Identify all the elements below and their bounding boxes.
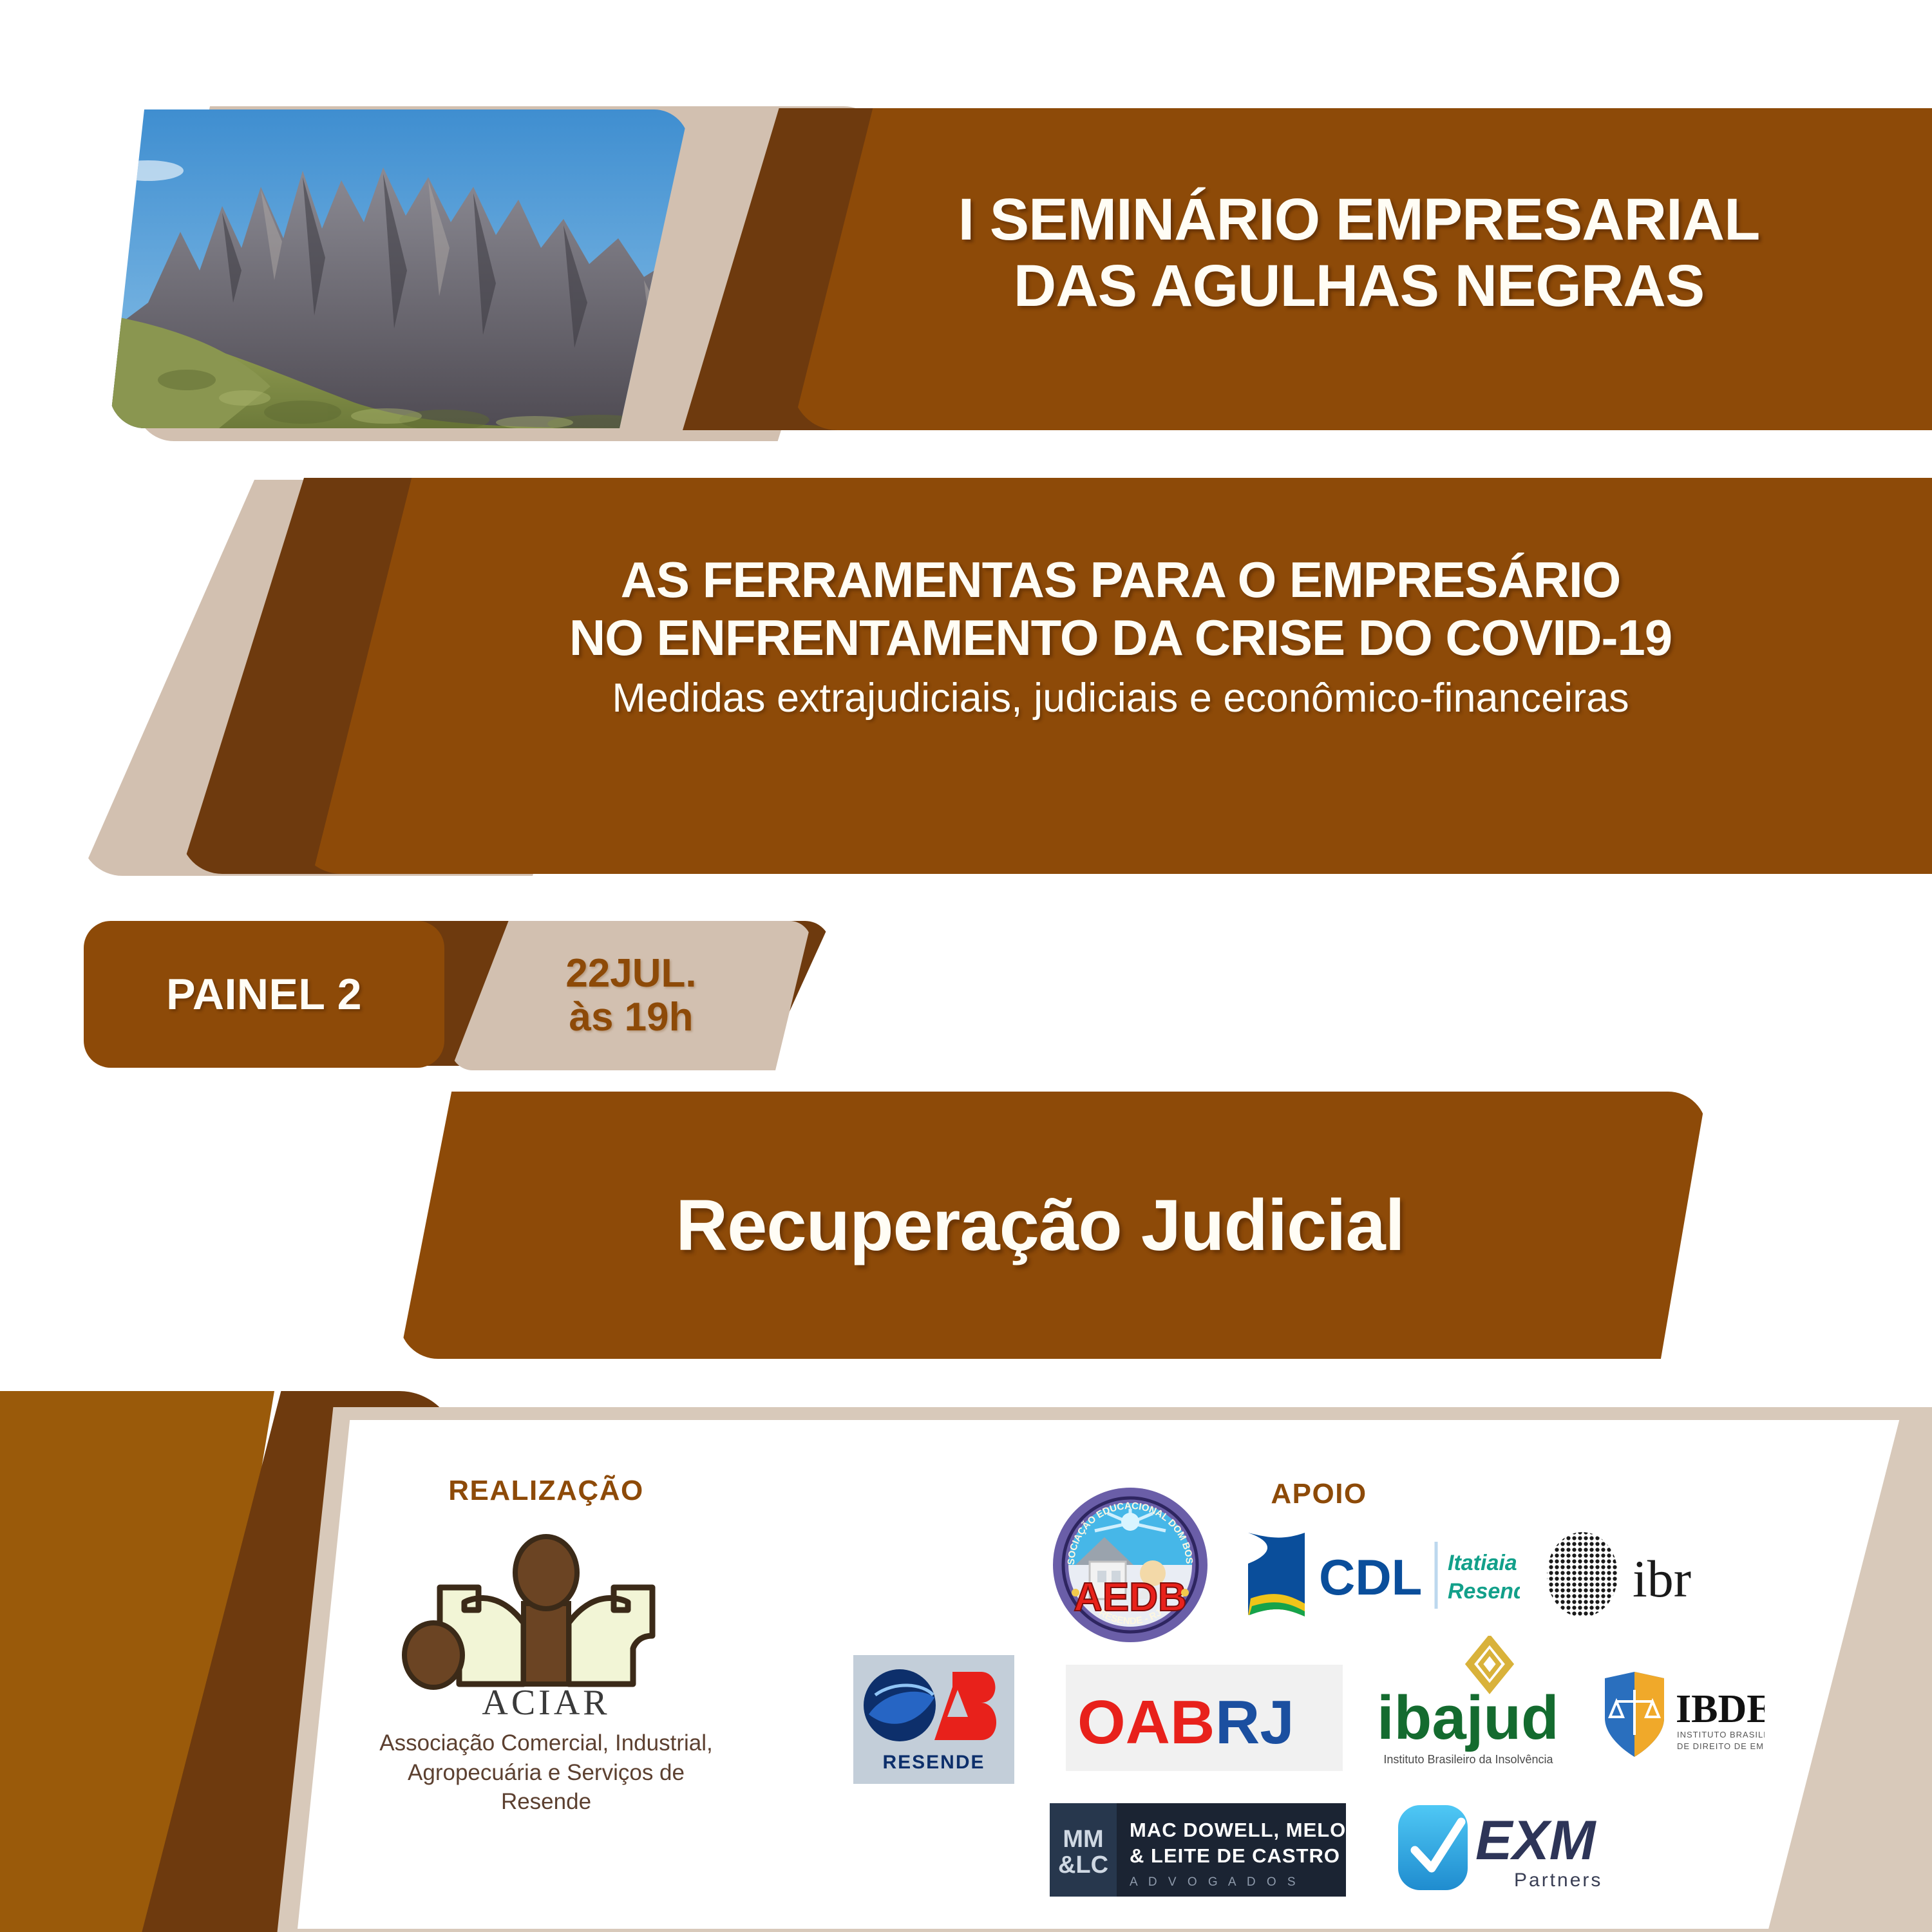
ibajud-sub: Instituto Brasileiro da Insolvência: [1383, 1753, 1553, 1766]
ibajud-wordmark: ibajud: [1377, 1683, 1559, 1752]
banner-line2: NO ENFRENTAMENTO DA CRISE DO COVID-19: [361, 609, 1880, 667]
aciar-caption-line1: Associação Comercial, Industrial,: [379, 1728, 714, 1758]
topic-banner: Recuperação Judicial: [399, 1092, 1707, 1359]
exm-sub: Partners: [1514, 1870, 1602, 1891]
banner-line1: AS FERRAMENTAS PARA O EMPRESÁRIO: [361, 551, 1880, 609]
ibajud-logo: ibajud Instituto Brasileiro da Insolvênc…: [1372, 1636, 1565, 1774]
oab-resende-sub: RESENDE: [882, 1752, 985, 1773]
cdl-logo: CDL Itatiaia Resende: [1243, 1526, 1520, 1623]
cdl-sub-line2: Resende: [1448, 1579, 1520, 1604]
seminar-title-line2: DAS AGULHAS NEGRAS: [805, 253, 1913, 319]
oabrj-part1: OAB: [1077, 1688, 1215, 1757]
seminar-title: I SEMINÁRIO EMPRESARIAL DAS AGULHAS NEGR…: [805, 187, 1913, 319]
seminar-title-line1: I SEMINÁRIO EMPRESARIAL: [805, 187, 1913, 253]
oabrj-part2: RJ: [1215, 1688, 1294, 1757]
painel-label: PAINEL 2: [166, 969, 362, 1019]
realizacao-label: REALIZAÇÃO: [430, 1475, 662, 1507]
aciar-caption: Associação Comercial, Industrial, Agrope…: [379, 1728, 714, 1817]
mmlc-line1: MAC DOWELL, MELO: [1130, 1819, 1346, 1841]
oabrj-logo: OAB RJ: [1066, 1665, 1343, 1771]
aedb-acronym: AEDB: [1074, 1575, 1187, 1620]
topic-title: Recuperação Judicial: [676, 1184, 1405, 1267]
mmlc-logo: MM &LC MAC DOWELL, MELO & LEITE DE CASTR…: [1050, 1803, 1346, 1897]
exm-partners-logo: EXM Partners: [1394, 1800, 1626, 1900]
mmlc-part1: MM: [1063, 1826, 1103, 1853]
aedb-logo: AEDB ASSOCIAÇÃO EDUCACIONAL DOM BOSCO RE…: [1050, 1484, 1211, 1645]
painel-badge: PAINEL 2: [84, 921, 444, 1068]
cdl-sub-line1: Itatiaia: [1448, 1551, 1517, 1575]
aciar-acronym: ACIAR: [482, 1683, 610, 1719]
mmlc-line3: A D V O G A D O S: [1130, 1875, 1300, 1889]
oab-resende-logo: RESENDE: [853, 1655, 1014, 1784]
aciar-logo: ACIAR Associação Comercial, Industrial, …: [379, 1526, 714, 1817]
ibde-logo: IBDE INSTITUTO BRASILEIRO DE DIREITO DE …: [1597, 1668, 1765, 1761]
aciar-caption-line2: Agropecuária e Serviços de Resende: [379, 1758, 714, 1817]
date-value: 22JUL.: [565, 952, 696, 996]
cdl-acronym: CDL: [1319, 1549, 1422, 1605]
date-badge: 22JUL. às 19h: [451, 921, 811, 1070]
ibde-sub-line1: INSTITUTO BRASILEIRO: [1677, 1730, 1765, 1739]
time-value: às 19h: [569, 996, 693, 1039]
poster-canvas: I SEMINÁRIO EMPRESARIAL DAS AGULHAS NEGR…: [0, 0, 1932, 1932]
ibde-acronym: IBDE: [1676, 1687, 1765, 1731]
agulhas-negras-mountain-photo: [109, 109, 689, 428]
mmlc-line2: & LEITE DE CASTRO: [1130, 1844, 1340, 1867]
ibde-sub-line2: DE DIREITO DE EMPRESA: [1677, 1741, 1765, 1751]
banner-subtitle: Medidas extrajudiciais, judiciais e econ…: [361, 675, 1880, 721]
mmlc-part2: &LC: [1058, 1851, 1108, 1879]
apoio-label: APOIO: [1248, 1478, 1390, 1510]
banner-text-block: AS FERRAMENTAS PARA O EMPRESÁRIO NO ENFR…: [361, 551, 1880, 721]
exm-wordmark: EXM: [1475, 1810, 1597, 1871]
ibr-logo: ibr: [1542, 1529, 1748, 1620]
ibr-wordmark: ibr: [1633, 1549, 1691, 1608]
